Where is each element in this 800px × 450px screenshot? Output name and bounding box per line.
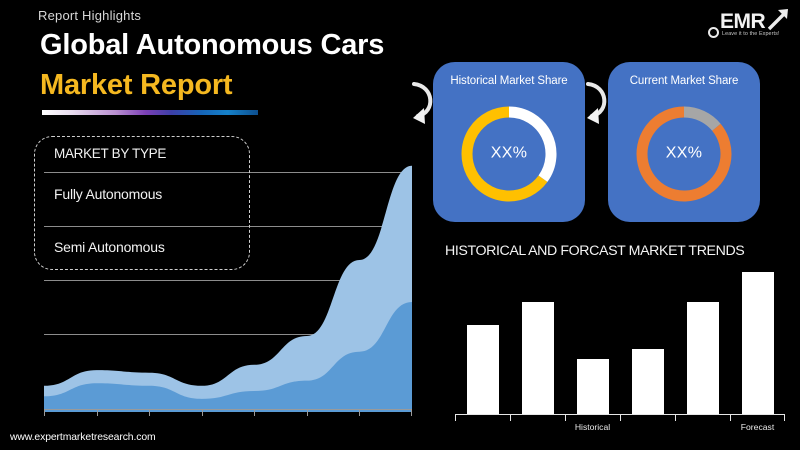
- bar: [632, 349, 664, 414]
- growth-arrow-icon: [766, 6, 792, 32]
- bar-axis-tick: [730, 414, 731, 421]
- bar: [687, 302, 719, 414]
- bar-axis-tick: [620, 414, 621, 421]
- area-axis-tick: [254, 409, 255, 416]
- bar-axis-tick: [510, 414, 511, 421]
- donut-value-label: XX%: [630, 145, 738, 163]
- bar: [577, 359, 609, 414]
- market-type-item: Semi Autonomous: [54, 239, 165, 255]
- area-axis-tick: [411, 409, 412, 416]
- card-title: Historical Market Share: [433, 75, 585, 87]
- bar-chart-title: HISTORICAL AND FORCAST MARKET TRENDS: [445, 243, 744, 259]
- slide-canvas: Report Highlights Global Autonomous Cars…: [0, 0, 800, 450]
- historical-forecast-bar-chart: [455, 272, 785, 414]
- area-chart-axis: [44, 409, 412, 417]
- area-axis-tick: [97, 409, 98, 416]
- current-market-share-card[interactable]: Current Market Share XX%: [608, 62, 760, 222]
- bar-axis-tick: [455, 414, 456, 421]
- logo-ring-icon: [708, 27, 719, 38]
- bar-axis-tick: [565, 414, 566, 421]
- donut-chart: XX%: [630, 100, 738, 208]
- bar-category-label: Historical: [553, 422, 633, 432]
- market-type-item: Fully Autonomous: [54, 186, 162, 202]
- bar-chart-axis: [455, 414, 785, 422]
- report-kicker: Report Highlights: [38, 8, 141, 23]
- area-axis-tick: [307, 409, 308, 416]
- donut-segment-remainder: [684, 112, 716, 127]
- area-axis-line: [44, 409, 412, 410]
- bar-category-label: Forecast: [718, 422, 798, 432]
- page-title-line-1: Global Autonomous Cars: [40, 29, 384, 62]
- page-title-line-2: Market Report: [40, 69, 232, 102]
- donut-value-label: XX%: [455, 145, 563, 163]
- area-axis-tick: [149, 409, 150, 416]
- historical-market-share-card[interactable]: Historical Market Share XX%: [433, 62, 585, 222]
- market-by-type-heading: MARKET BY TYPE: [54, 146, 166, 161]
- bar-axis-tick: [784, 414, 785, 421]
- area-axis-tick: [359, 409, 360, 416]
- donut-chart: XX%: [455, 100, 563, 208]
- bar: [522, 302, 554, 414]
- area-axis-tick: [44, 409, 45, 416]
- bar-axis-tick: [675, 414, 676, 421]
- area-axis-tick: [202, 409, 203, 416]
- footer-website: www.expertmarketresearch.com: [10, 432, 156, 443]
- emr-logo: EMR Leave it to the Experts!: [696, 6, 792, 46]
- title-underline-rule: [42, 110, 258, 115]
- bar: [467, 325, 499, 415]
- card-title: Current Market Share: [608, 75, 760, 87]
- bar: [742, 272, 774, 414]
